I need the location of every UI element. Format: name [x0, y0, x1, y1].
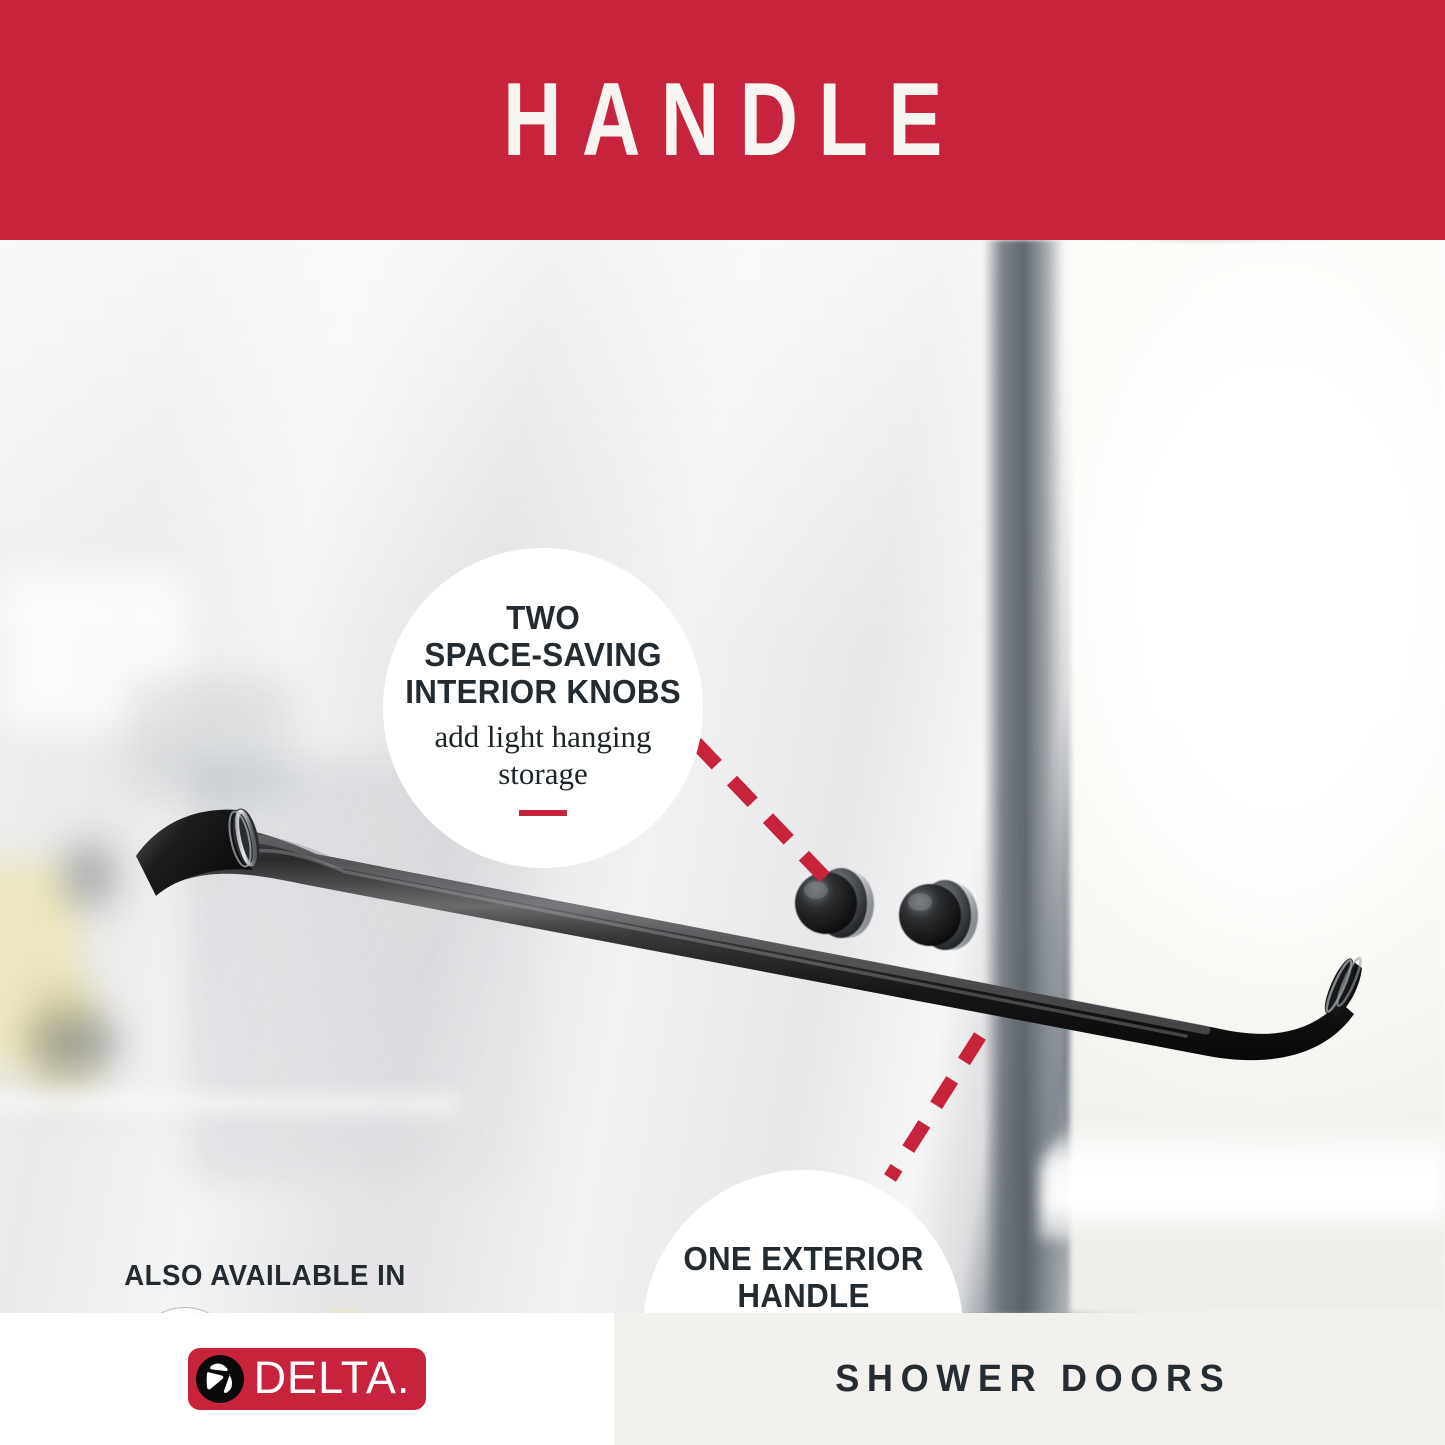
background-blur-shape	[60, 840, 120, 910]
page-title: HANDLE	[483, 68, 963, 172]
callout-headline: TWO SPACE-SAVING INTERIOR KNOBS	[405, 600, 681, 711]
callout-headline-line3: INTERIOR KNOBS	[405, 674, 681, 711]
delta-wordmark: DELTA.	[254, 1355, 411, 1403]
header-banner: HANDLE	[0, 0, 1445, 240]
callout-headline-line1: ONE EXTERIOR	[683, 1241, 923, 1278]
callout-headline-line2: SPACE-SAVING	[405, 637, 681, 674]
background-blur-shape	[130, 680, 290, 800]
infographic-page: HANDLE	[0, 0, 1445, 1445]
callout-headline-line2: HANDLE	[683, 1278, 923, 1313]
callout-headline-line1: TWO	[405, 600, 681, 637]
callout-subtext-line1: add light hanging	[435, 718, 652, 755]
available-finishes: ALSO AVAILABLE IN CHROME BRUSHED NICKEL	[100, 1260, 430, 1313]
background-shelf	[0, 1095, 460, 1121]
callout-subtext-line2: storage	[435, 755, 652, 792]
footer-tagline-area: SHOWER DOORS	[614, 1313, 1445, 1445]
callout-headline: ONE EXTERIOR HANDLE	[683, 1241, 923, 1313]
window-sill	[1040, 1120, 1445, 1240]
footer-tagline: SHOWER DOORS	[828, 1358, 1232, 1401]
callout-subtext: add light hanging storage	[435, 718, 652, 792]
footer-brand-area: DELTA.	[0, 1313, 614, 1445]
background-blur-shape	[30, 1015, 120, 1070]
product-photo: TWO SPACE-SAVING INTERIOR KNOBS add ligh…	[0, 240, 1445, 1313]
footer: DELTA. SHOWER DOORS	[0, 1313, 1445, 1445]
delta-logo[interactable]: DELTA.	[188, 1348, 427, 1410]
callout-accent-rule	[519, 810, 567, 816]
finishes-title: ALSO AVAILABLE IN	[108, 1260, 422, 1293]
callout-interior-knobs: TWO SPACE-SAVING INTERIOR KNOBS add ligh…	[383, 548, 703, 868]
delta-triangle-icon	[196, 1355, 244, 1403]
